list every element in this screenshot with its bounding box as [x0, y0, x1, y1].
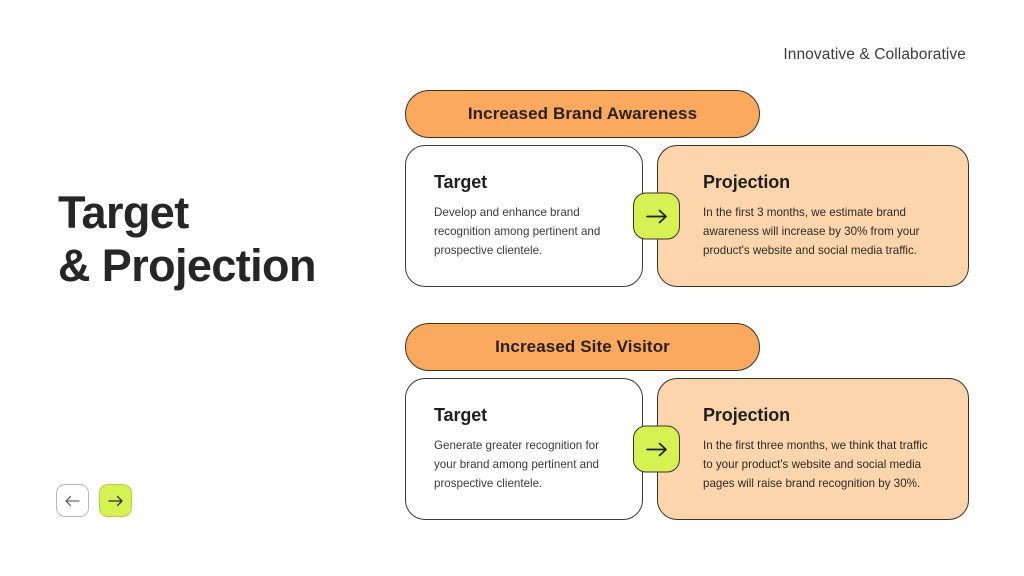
- previous-slide-button[interactable]: [56, 484, 89, 517]
- arrow-left-icon: [64, 495, 81, 507]
- goal-group-1: Increased Brand Awareness Target Develop…: [405, 90, 970, 287]
- target-card-2: Target Generate greater recognition for …: [405, 378, 643, 520]
- arrow-right-icon: [645, 208, 669, 224]
- slide-canvas: Innovative & Collaborative Target & Proj…: [0, 0, 1024, 576]
- goal-group-2: Increased Site Visitor Target Generate g…: [405, 323, 970, 520]
- target-heading-1: Target: [434, 172, 614, 193]
- content-column: Increased Brand Awareness Target Develop…: [405, 90, 970, 520]
- goal-banner-1: Increased Brand Awareness: [405, 90, 760, 138]
- slide-tagline: Innovative & Collaborative: [783, 46, 966, 64]
- slide-navigation: [56, 484, 132, 517]
- page-title: Target & Projection: [58, 186, 316, 292]
- page-title-line-1: Target: [58, 186, 316, 239]
- projection-body-2: In the first three months, we think that…: [703, 437, 940, 493]
- arrow-right-icon: [645, 441, 669, 457]
- projection-heading-1: Projection: [703, 172, 940, 193]
- connector-arrow-button-2[interactable]: [633, 426, 680, 473]
- target-body-2: Generate greater recognition for your br…: [434, 437, 614, 493]
- goal-row-1: Target Develop and enhance brand recogni…: [405, 145, 970, 287]
- target-body-1: Develop and enhance brand recognition am…: [434, 204, 614, 260]
- arrow-right-icon: [107, 495, 124, 507]
- projection-card-1: Projection In the first 3 months, we est…: [657, 145, 969, 287]
- goal-banner-2: Increased Site Visitor: [405, 323, 760, 371]
- next-slide-button[interactable]: [99, 484, 132, 517]
- goal-row-2: Target Generate greater recognition for …: [405, 378, 970, 520]
- connector-arrow-button-1[interactable]: [633, 193, 680, 240]
- target-card-1: Target Develop and enhance brand recogni…: [405, 145, 643, 287]
- projection-heading-2: Projection: [703, 405, 940, 426]
- projection-body-1: In the first 3 months, we estimate brand…: [703, 204, 940, 260]
- projection-card-2: Projection In the first three months, we…: [657, 378, 969, 520]
- page-title-line-2: & Projection: [58, 239, 316, 292]
- target-heading-2: Target: [434, 405, 614, 426]
